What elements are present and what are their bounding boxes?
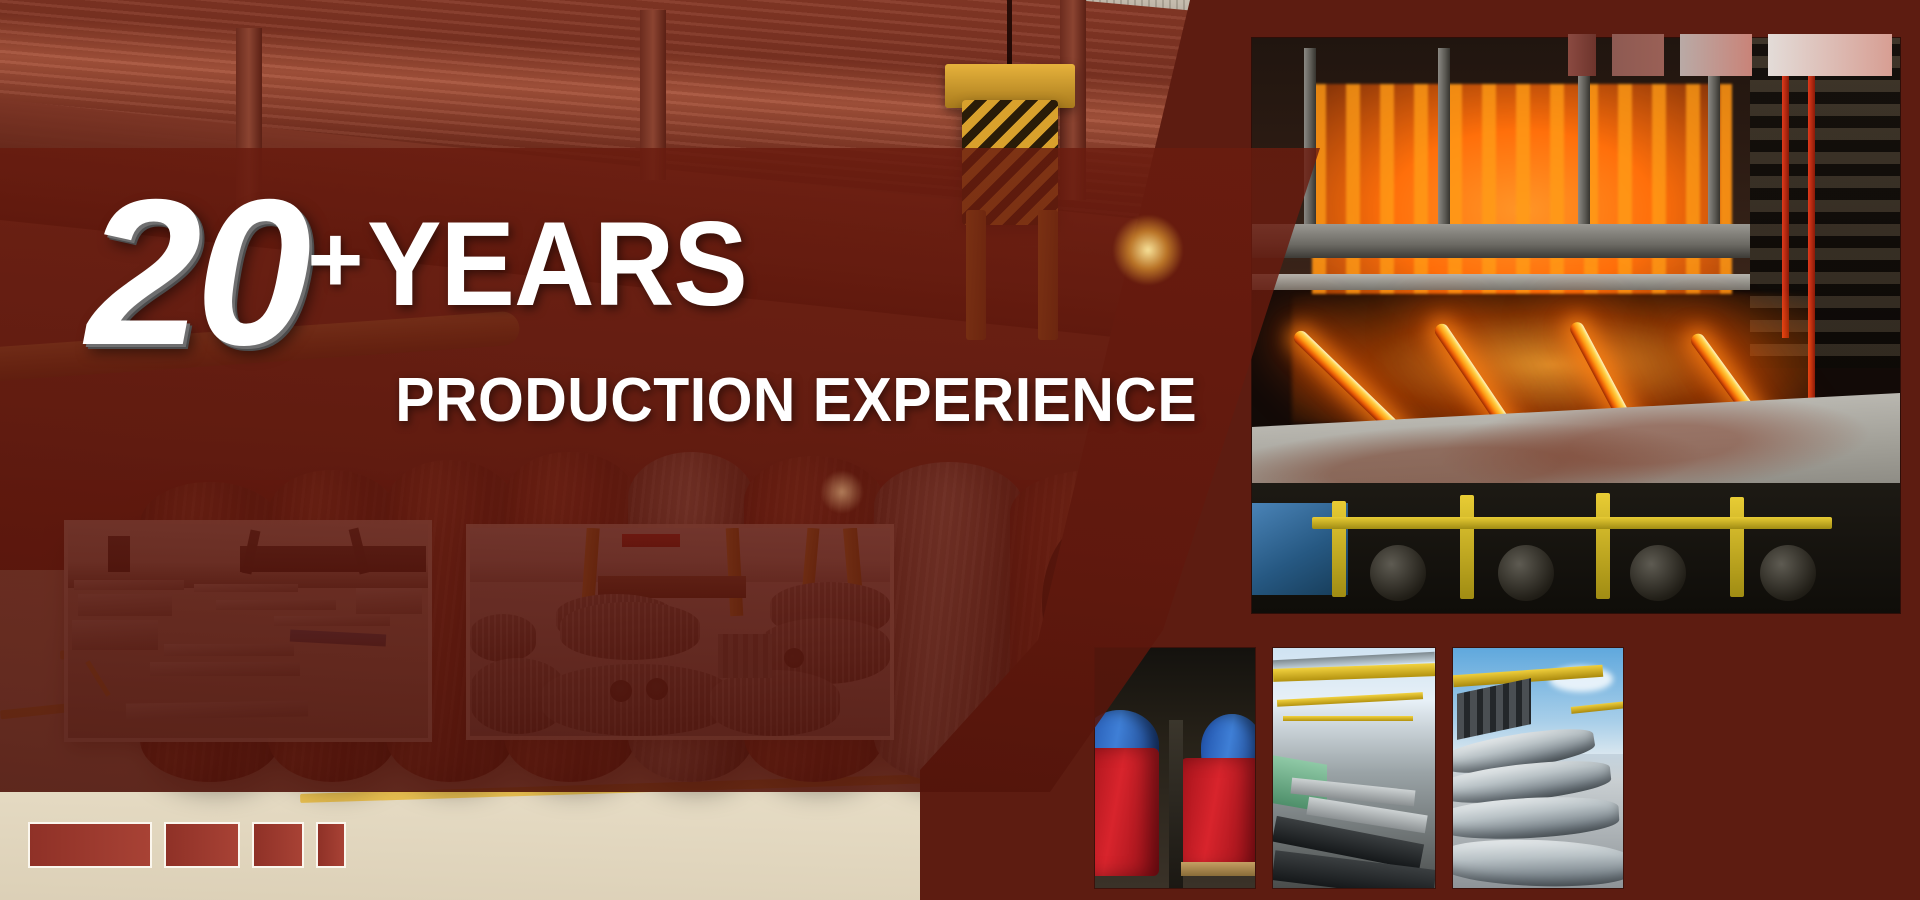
- steel-plate: [72, 620, 158, 650]
- yellow-frame: [1460, 495, 1474, 599]
- overhead-crane: [1277, 692, 1423, 707]
- lifter-arm: [1038, 210, 1058, 340]
- steel-plate: [150, 662, 300, 676]
- coil-stack: [542, 664, 732, 736]
- overhead-crane: [1283, 716, 1413, 721]
- factory-sign: [622, 534, 680, 547]
- thumbnail-ppgi-prepainted-coils: [1095, 648, 1255, 888]
- coil-stack: [560, 602, 700, 660]
- steel-plate: [274, 616, 390, 626]
- swatch-bar: [1680, 34, 1752, 76]
- lens-flare-icon: [1113, 215, 1183, 285]
- galvanized-pipe: [1453, 837, 1623, 888]
- lifter-arm: [966, 210, 986, 340]
- yellow-frame: [1730, 497, 1744, 597]
- shipping-container: [718, 634, 772, 678]
- swatch-bar: [318, 824, 344, 866]
- floor-marking: [85, 660, 110, 697]
- roller: [1630, 545, 1686, 601]
- caster-strut: [1438, 48, 1450, 248]
- yard-background: [470, 528, 890, 582]
- swatch-bar: [1768, 34, 1892, 76]
- steel-plate: [78, 594, 172, 616]
- roller-bed: [1252, 483, 1900, 613]
- yellow-rail: [1312, 517, 1832, 529]
- coil-lifter: [962, 100, 1058, 225]
- coil-stack: [710, 670, 840, 736]
- steel-plate: [164, 644, 294, 656]
- wooden-pallet: [1181, 862, 1255, 876]
- caster-strut: [1304, 48, 1316, 248]
- coil-bore: [610, 680, 632, 702]
- steel-plate: [126, 700, 308, 719]
- yellow-frame: [1596, 493, 1610, 599]
- inset-photo-wire-rod-coil-yard: [470, 528, 890, 736]
- machine-post: [108, 536, 130, 572]
- decorative-swatches-bottom-left: [30, 824, 344, 866]
- swatch-bar: [1568, 34, 1596, 76]
- inset-photo-steel-plate-warehouse: [68, 524, 428, 738]
- caster-strut: [1708, 48, 1720, 248]
- thumbnail-h-beam-warehouse: [1273, 648, 1435, 888]
- plate-machine: [240, 546, 426, 572]
- hero-banner: 20 + YEARS PRODUCTION EXPERIENCE: [0, 0, 1920, 900]
- swatch-bar: [30, 824, 150, 866]
- steel-plate: [74, 580, 184, 590]
- decorative-swatches-top-right: [1568, 34, 1892, 76]
- photo-continuous-casting-machine: [1252, 38, 1900, 613]
- swatch-bar: [1612, 34, 1664, 76]
- coil-bore: [646, 678, 668, 700]
- red-coil: [1095, 748, 1159, 876]
- steel-plate: [216, 600, 336, 610]
- steel-plate: [194, 584, 298, 592]
- roller: [1498, 545, 1554, 601]
- caster-strut: [1578, 48, 1590, 248]
- hall-column: [640, 10, 666, 180]
- lens-flare-icon: [820, 470, 864, 514]
- roller: [1760, 545, 1816, 601]
- coil-bore: [784, 648, 804, 668]
- roller: [1370, 545, 1426, 601]
- thumbnail-galvanized-steel-pipes: [1453, 648, 1623, 888]
- red-coil: [1181, 758, 1255, 870]
- furnace-glow: [1312, 84, 1732, 294]
- swatch-bar: [166, 824, 238, 866]
- coil-stack: [470, 614, 536, 662]
- hall-column: [236, 28, 262, 208]
- steel-plate: [290, 629, 386, 646]
- swatch-bar: [254, 824, 302, 866]
- yellow-frame: [1332, 501, 1346, 597]
- steel-plate: [356, 588, 422, 614]
